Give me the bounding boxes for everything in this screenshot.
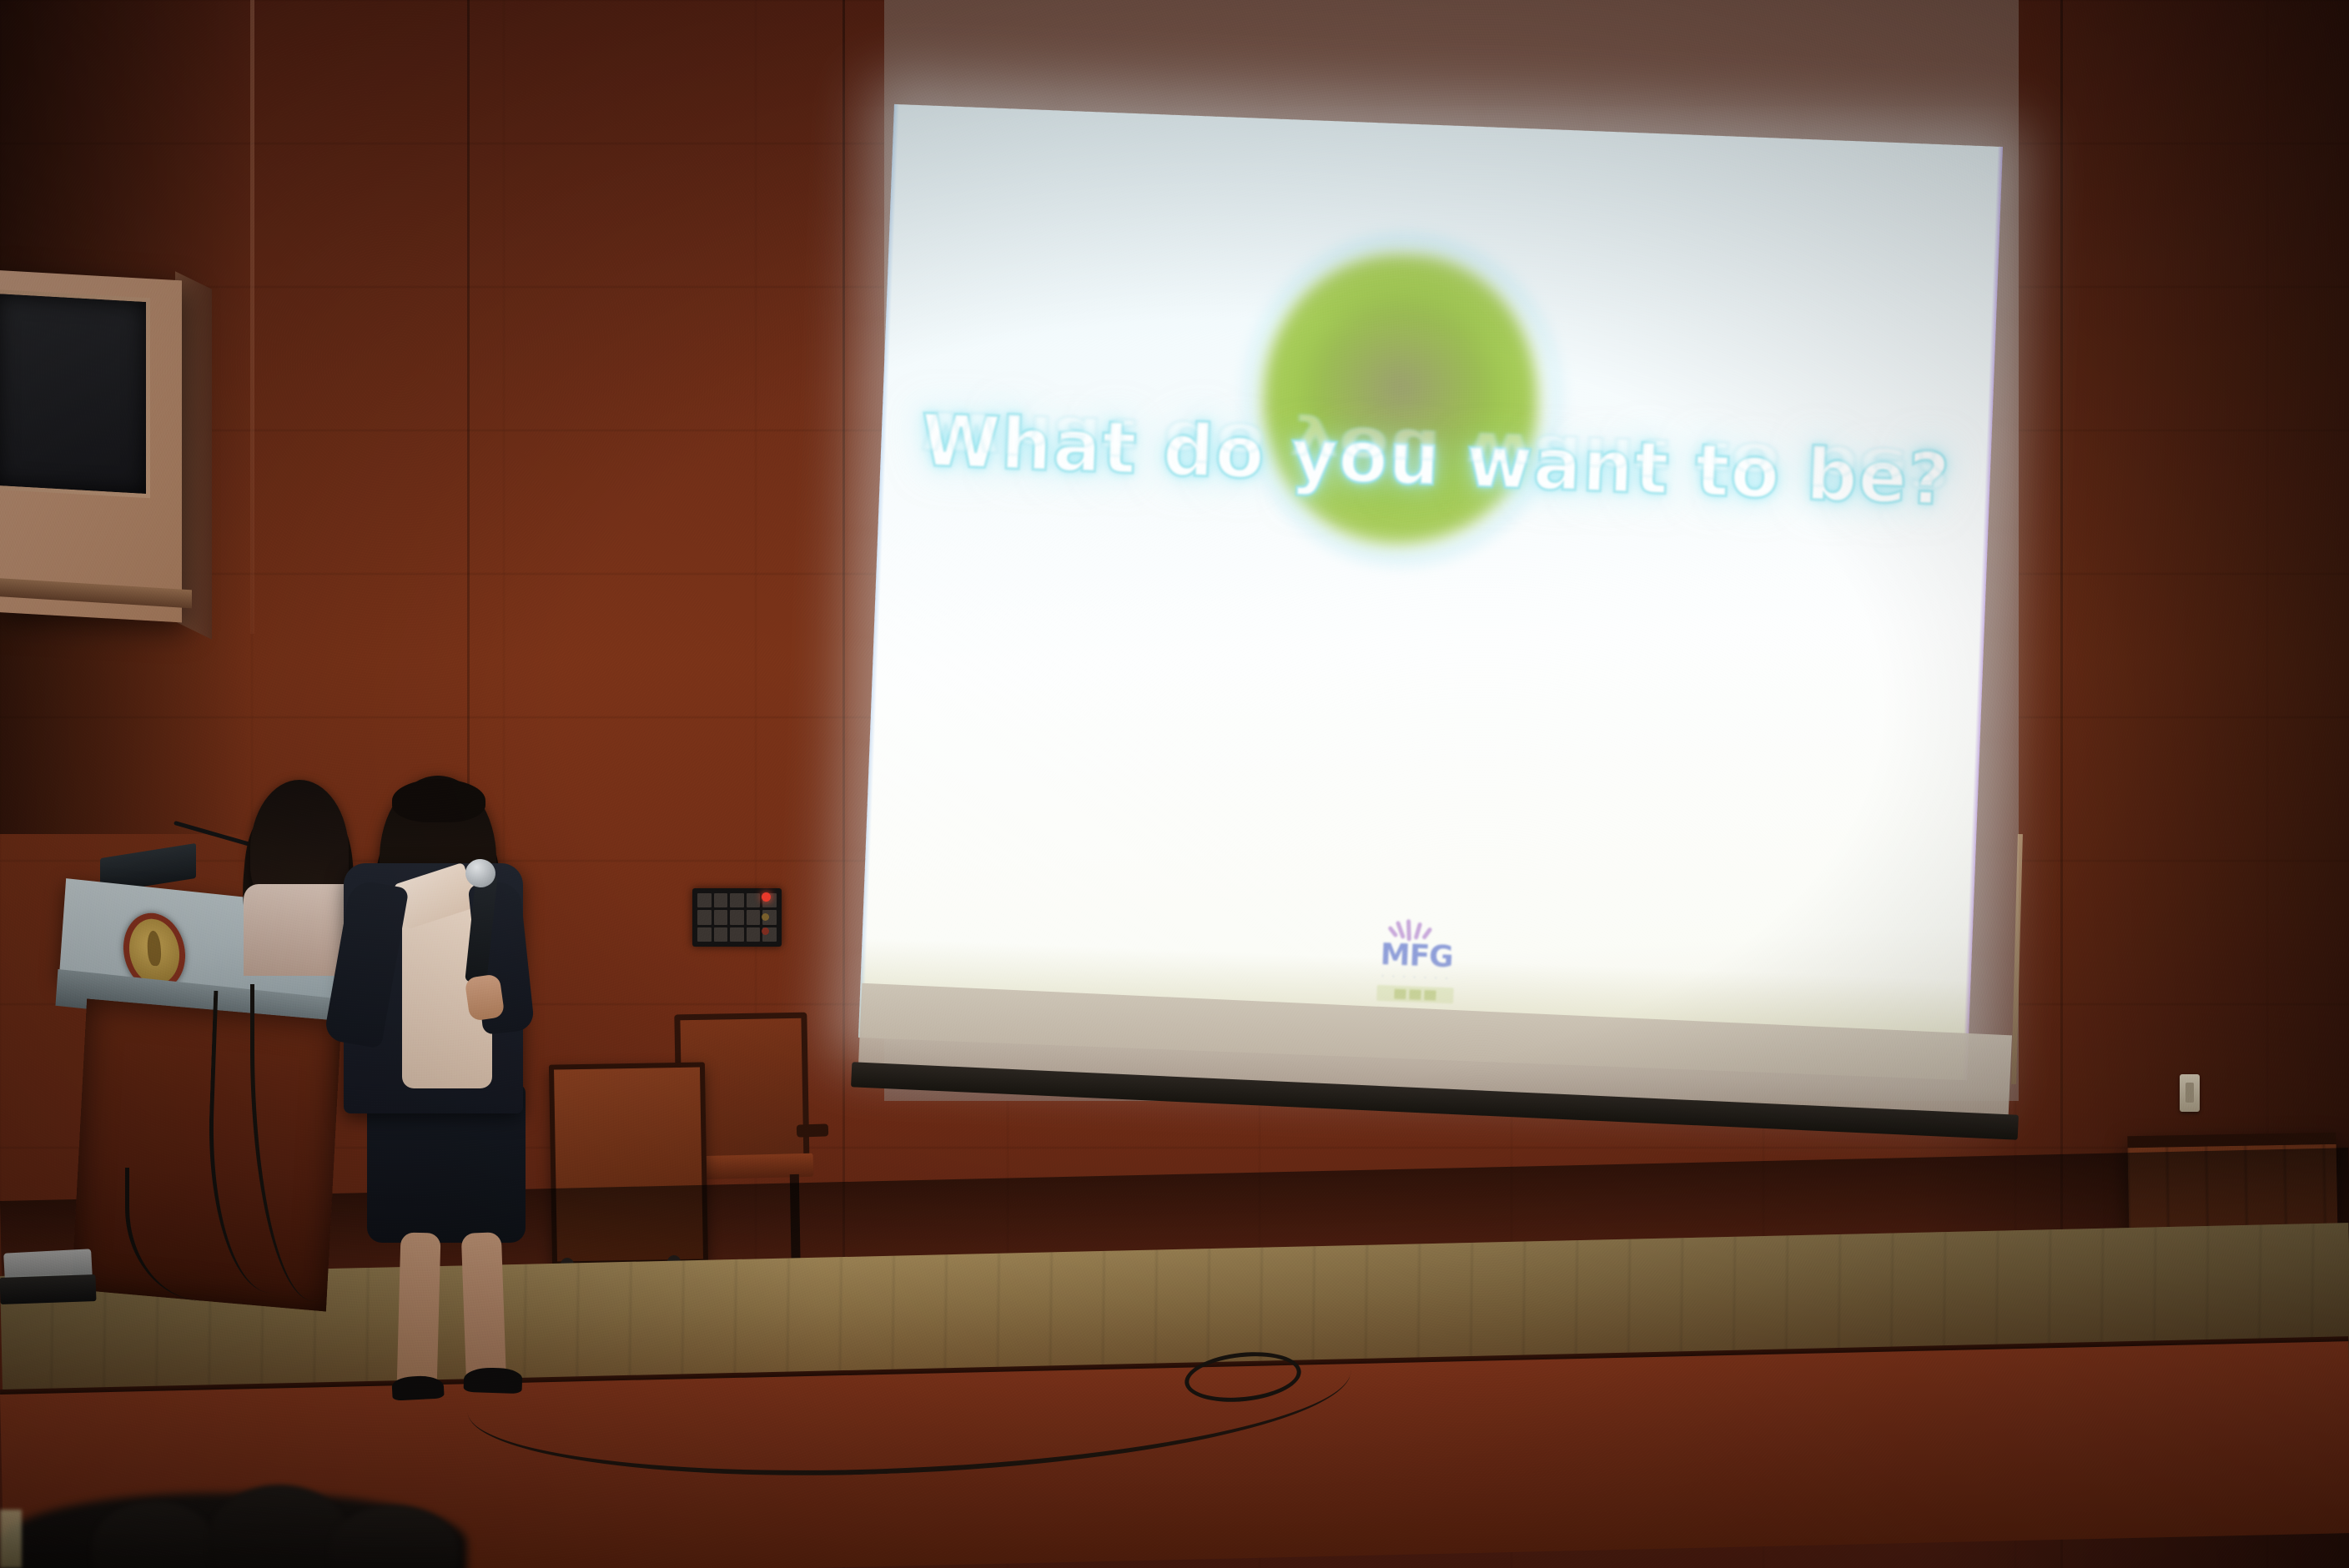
status-led-icon: [762, 913, 769, 921]
wall-panel-edge: [250, 0, 254, 634]
projected-slide: What do you want to be? What do you want…: [858, 104, 2003, 1080]
corner-highlight: [0, 1510, 22, 1568]
shoe: [391, 1375, 444, 1400]
power-strip: [0, 1274, 97, 1304]
shoe: [463, 1367, 522, 1394]
status-led-icon: [762, 927, 769, 935]
bangs: [392, 779, 485, 822]
leg: [397, 1232, 441, 1391]
auditorium-photo: What do you want to be? What do you want…: [0, 0, 2349, 1568]
leg: [461, 1232, 506, 1388]
chair-armrest: [797, 1123, 829, 1137]
power-led-icon: [762, 892, 771, 902]
projection-screen: What do you want to be? What do you want…: [868, 0, 2044, 1201]
hand: [465, 973, 506, 1021]
monitor-screen: [0, 289, 150, 499]
light-switch-plate[interactable]: [2180, 1074, 2200, 1112]
